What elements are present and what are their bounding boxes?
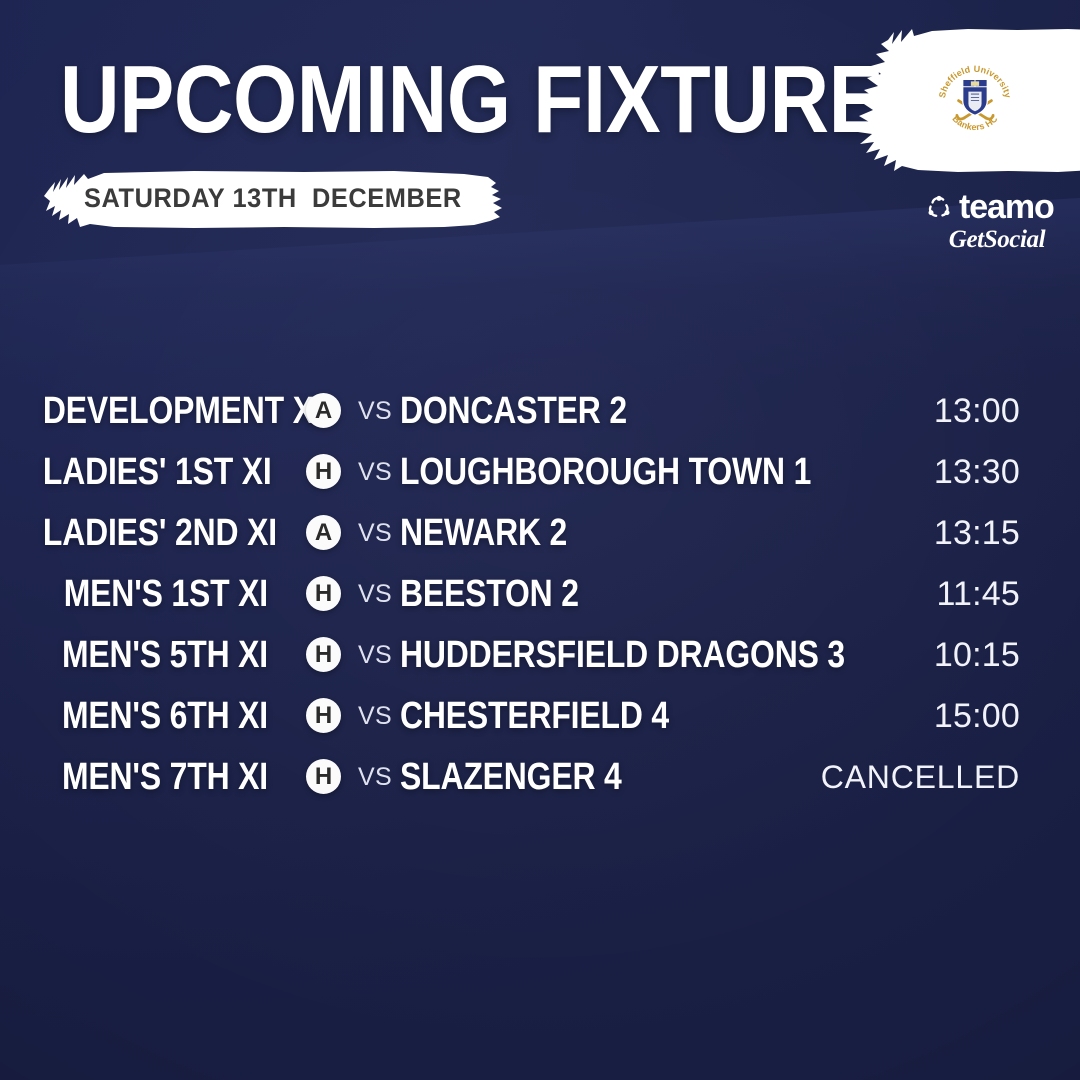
away-team-label: HUDDERSFIELD DRAGONS 3 [400, 635, 845, 675]
vs-label: VS [354, 642, 396, 668]
kickoff-time: 15:00 [934, 698, 1020, 734]
vs-label: VS [354, 520, 396, 546]
partner-logo: teamo GetSocial [926, 190, 1068, 252]
vs-label: VS [354, 764, 396, 790]
away-team-label: NEWARK 2 [400, 513, 567, 553]
vs-label: VS [354, 459, 396, 485]
fixture-row: MEN'S 5TH XIHVSHUDDERSFIELD DRAGONS 310:… [0, 624, 1080, 685]
fixtures-poster: UPCOMING FIXTURES SATURDAY 13TH DECEMBER… [0, 0, 1080, 1080]
home-team-label: MEN'S 7TH XI [43, 757, 268, 797]
kickoff-time: 10:15 [934, 637, 1020, 673]
kickoff-time: 13:00 [934, 393, 1020, 429]
home-team-label: LADIES' 2ND XI [43, 513, 268, 553]
fixture-row: MEN'S 7TH XIHVSSLAZENGER 4CANCELLED [0, 746, 1080, 807]
status-badge: CANCELLED [821, 759, 1020, 795]
vs-label: VS [354, 703, 396, 729]
club-crest-icon: Sheffield University Bankers HC [934, 58, 1016, 140]
fixture-row: MEN'S 1ST XIHVSBEESTON 211:45 [0, 563, 1080, 624]
vs-label: VS [354, 398, 396, 424]
fixtures-list: DEVELOPMENT XIAVSDONCASTER 213:00LADIES'… [0, 380, 1080, 807]
page-title: UPCOMING FIXTURES [60, 52, 938, 148]
home-team-label: LADIES' 1ST XI [43, 452, 268, 492]
partner-tagline: GetSocial [926, 226, 1068, 253]
home-team-label: MEN'S 1ST XI [43, 574, 268, 614]
partner-wordmark: teamo [959, 190, 1054, 224]
away-team-label: SLAZENGER 4 [400, 757, 622, 797]
kickoff-time: 11:45 [936, 576, 1020, 612]
fixture-row: MEN'S 6TH XIHVSCHESTERFIELD 415:00 [0, 685, 1080, 746]
away-team-label: BEESTON 2 [400, 574, 579, 614]
away-team-label: LOUGHBOROUGH TOWN 1 [400, 452, 811, 492]
home-team-label: MEN'S 5TH XI [43, 635, 268, 675]
fixture-row: LADIES' 2ND XIAVSNEWARK 213:15 [0, 502, 1080, 563]
date-label: SATURDAY 13TH DECEMBER [84, 183, 462, 213]
home-venue-badge: H [306, 576, 341, 611]
away-venue-badge: A [306, 393, 341, 428]
away-team-label: CHESTERFIELD 4 [400, 696, 669, 736]
home-team-label: DEVELOPMENT XI [43, 391, 268, 431]
home-venue-badge: H [306, 454, 341, 489]
home-venue-badge: H [306, 698, 341, 733]
kickoff-time: 13:30 [934, 454, 1020, 490]
away-team-label: DONCASTER 2 [400, 391, 627, 431]
fixture-row: LADIES' 1ST XIHVSLOUGHBOROUGH TOWN 113:3… [0, 441, 1080, 502]
kickoff-time: 13:15 [934, 515, 1020, 551]
home-team-label: MEN'S 6TH XI [43, 696, 268, 736]
fixture-row: DEVELOPMENT XIAVSDONCASTER 213:00 [0, 380, 1080, 441]
away-venue-badge: A [306, 515, 341, 550]
home-venue-badge: H [306, 759, 341, 794]
home-venue-badge: H [306, 637, 341, 672]
vs-label: VS [354, 581, 396, 607]
teamo-triangle-icon [926, 194, 952, 220]
